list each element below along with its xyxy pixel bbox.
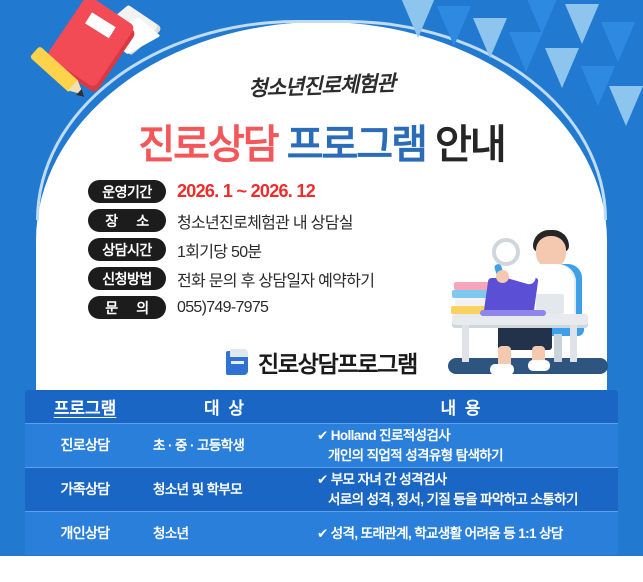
person-hand [496, 270, 509, 283]
info-value: 청소년진로체험관 내 상담실 [177, 209, 353, 233]
program-heading-label: 진로상담프로그램 [258, 345, 417, 379]
magnifying-glass-icon [492, 238, 520, 266]
table-row: 가족상담 청소년 및 학부모 ✔부모 자녀 간 성격검사 서로의 성격, 정서,… [25, 467, 618, 511]
bunting-flag [601, 22, 635, 62]
info-label-badge: 문 의 [88, 296, 166, 319]
content-line-1: Holland 진로적성검사 [331, 428, 450, 443]
info-label-badge: 운영기간 [88, 180, 166, 203]
table-row: 진로상담 초 · 중 · 고등학생 ✔Holland 진로적성검사 개인의 직업… [25, 423, 618, 467]
info-list: 운영기간 2026. 1 ~ 2026. 12 장 소 청소년진로체험관 내 상… [88, 178, 468, 323]
info-row: 신청방법 전화 문의 후 상담일자 예약하기 [88, 265, 468, 292]
content-line-1: 성격, 또래관계, 학교생활 어려움 등 1:1 상담 [331, 526, 563, 541]
blue-book-icon [226, 349, 250, 375]
bunting-flag [565, 4, 599, 44]
cell-program-label: 개인상담 [60, 524, 109, 544]
info-label-text: 문 [105, 298, 117, 318]
cell-content-text: ✔Holland 진로적성검사 개인의 직업적 성격유형 탐색하기 [317, 426, 503, 464]
info-label-text: 장 [105, 211, 117, 231]
content-line-2: 서로의 성격, 정서, 기질 등을 파악하고 소통하기 [317, 490, 578, 509]
cell-program-label: 가족상담 [60, 480, 109, 500]
bunting-flag [401, 0, 435, 38]
info-row: 장 소 청소년진로체험관 내 상담실 [88, 207, 468, 234]
header-label-content: 내 용 [440, 394, 482, 419]
info-row: 문 의 055)749-7975 [88, 294, 468, 321]
program-heading: 진로상담프로그램 [0, 345, 643, 379]
cell-program-label: 진로상담 [60, 436, 109, 456]
info-row: 운영기간 2026. 1 ~ 2026. 12 [88, 178, 468, 205]
info-value: 2026. 1 ~ 2026. 12 [177, 181, 315, 202]
poster-canvas: 청소년진로체험관 진로상담 프로그램 안내 운영기간 2026. 1 ~ 202… [0, 0, 643, 582]
table-row: 개인상담 청소년 ✔성격, 또래관계, 학교생활 어려움 등 1:1 상담 [25, 511, 618, 555]
table-header-cell-program: 프로그램 [25, 390, 145, 423]
info-value: 055)749-7975 [177, 299, 268, 317]
table-header-cell-content: 내 용 [305, 390, 618, 423]
header-label-target: 대 상 [204, 394, 246, 419]
book-icon-page [230, 349, 248, 357]
cell-content: ✔성격, 또래관계, 학교생활 어려움 등 1:1 상담 [305, 512, 618, 555]
title-part-blue: 프로그램 [287, 123, 426, 167]
content-line-1: 부모 자녀 간 성격검사 [331, 472, 447, 487]
cell-target: 초 · 중 · 고등학생 [145, 424, 305, 467]
table-header-cell-target: 대 상 [145, 390, 305, 423]
info-label-badge: 신청방법 [88, 267, 166, 290]
title-part-black: 안내 [435, 123, 505, 167]
header-label-program: 프로그램 [54, 394, 117, 419]
cell-program: 진로상담 [25, 424, 145, 467]
cell-program: 개인상담 [25, 512, 145, 555]
info-row: 상담시간 1회기당 50분 [88, 236, 468, 263]
cell-target-label: 청소년 및 학부모 [153, 480, 242, 499]
program-table: 프로그램 대 상 내 용 진로상담 초 · 중 · 고등학생 ✔Holland … [25, 390, 618, 555]
cell-target-label: 초 · 중 · 고등학생 [153, 436, 244, 455]
page-title: 진로상담 프로그램 안내 [0, 112, 643, 170]
table-header-row: 프로그램 대 상 내 용 [25, 390, 618, 423]
cell-target: 청소년 및 학부모 [145, 468, 305, 511]
info-label-badge: 상담시간 [88, 238, 166, 261]
info-label-badge: 장 소 [88, 209, 166, 232]
cell-content-text: ✔성격, 또래관계, 학교생활 어려움 등 1:1 상담 [317, 524, 563, 543]
info-label-text: 운영기간 [102, 182, 152, 202]
cell-content: ✔Holland 진로적성검사 개인의 직업적 성격유형 탐색하기 [305, 424, 618, 467]
bottom-white-strip [0, 556, 643, 582]
content-line-2: 개인의 직업적 성격유형 탐색하기 [317, 446, 503, 465]
info-label-text-2: 소 [136, 211, 148, 231]
check-icon: ✔ [317, 526, 328, 541]
cell-target-label: 청소년 [153, 524, 188, 543]
laptop-base [480, 310, 546, 316]
check-icon: ✔ [317, 428, 328, 443]
book-icon-line [231, 361, 244, 364]
cell-program: 가족상담 [25, 468, 145, 511]
bunting-flag [437, 6, 471, 46]
cell-target: 청소년 [145, 512, 305, 555]
cell-content-text: ✔부모 자녀 간 성격검사 서로의 성격, 정서, 기질 등을 파악하고 소통하… [317, 470, 578, 508]
title-part-red: 진로상담 [138, 123, 277, 167]
bunting-flag [473, 18, 507, 58]
bunting-flag [525, 0, 559, 34]
info-label-text-2: 의 [136, 298, 148, 318]
info-label-text: 신청방법 [102, 269, 152, 289]
info-value: 1회기당 50분 [177, 238, 261, 262]
info-label-text: 상담시간 [102, 240, 152, 260]
info-value: 전화 문의 후 상담일자 예약하기 [177, 267, 374, 291]
check-icon: ✔ [317, 472, 328, 487]
cell-content: ✔부모 자녀 간 성격검사 서로의 성격, 정서, 기질 등을 파악하고 소통하… [305, 468, 618, 511]
